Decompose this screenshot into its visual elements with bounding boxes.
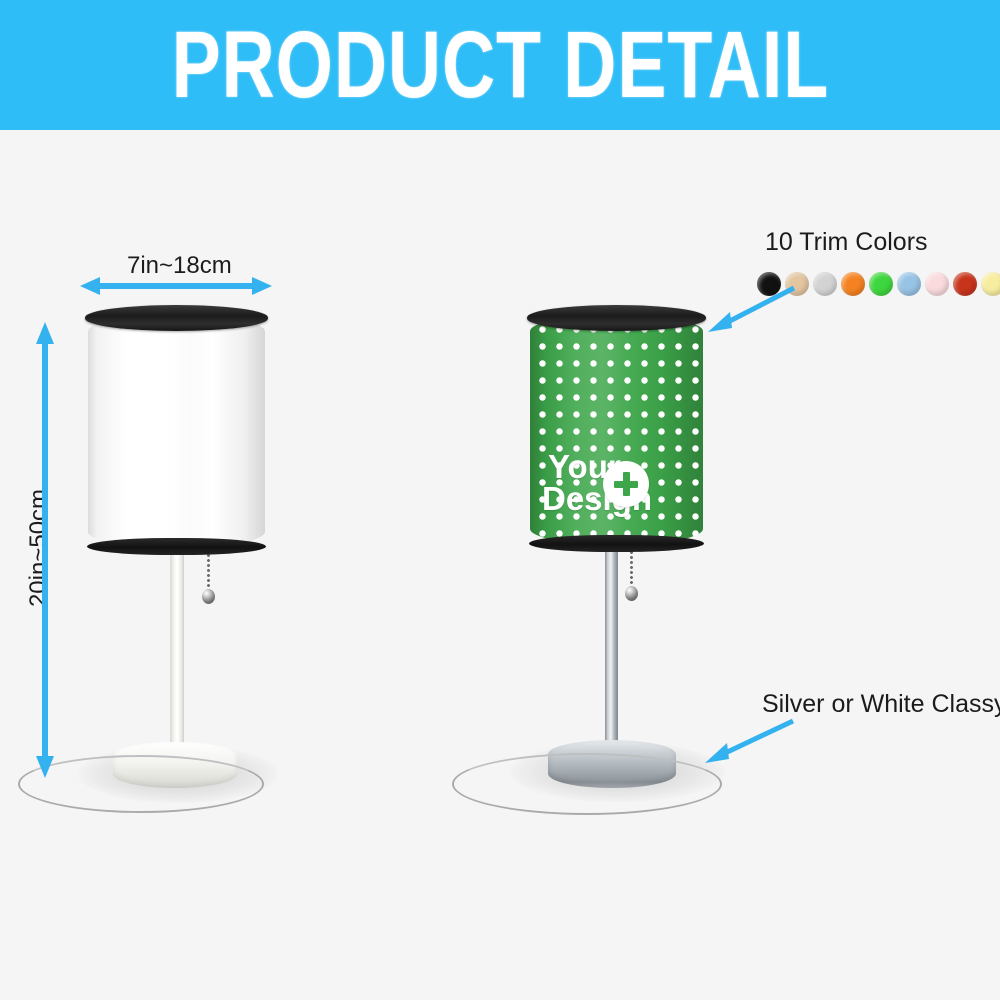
trim-swatch-light-yellow[interactable]: [981, 272, 1000, 296]
plus-circle-icon: [603, 461, 649, 507]
trim-swatch-light-blue[interactable]: [897, 272, 921, 296]
product-detail-infographic: PRODUCT DETAIL Your Design: [0, 0, 1000, 1000]
lampshade-green: Your Design: [530, 315, 703, 545]
power-cord-icon-green: [452, 753, 722, 815]
trim-swatch-pink[interactable]: [925, 272, 949, 296]
lampshade-green-top-trim: [527, 305, 706, 331]
height-dimension-arrow: [31, 320, 59, 780]
lamp-pole-silver: [605, 545, 618, 755]
lampshade-white-top-trim: [85, 305, 268, 331]
trim-swatch-red[interactable]: [953, 272, 977, 296]
trim-swatch-light-gray[interactable]: [813, 272, 837, 296]
trim-swatch-orange[interactable]: [841, 272, 865, 296]
width-dimension-arrow: [78, 272, 274, 300]
lampshade-green-bottom-trim: [529, 535, 704, 552]
header-banner: PRODUCT DETAIL: [0, 0, 1000, 130]
trim-pointer-arrow: [698, 282, 800, 334]
pull-chain-ball-icon[interactable]: [202, 589, 215, 604]
trim-colors-label: 10 Trim Colors: [765, 228, 928, 257]
lamp-pole-white: [170, 548, 184, 760]
trim-swatch-green[interactable]: [869, 272, 893, 296]
pull-chain-ball-icon-green[interactable]: [625, 586, 638, 601]
page-title: PRODUCT DETAIL: [171, 18, 829, 112]
base-pointer-arrow: [695, 715, 800, 767]
lampshade-white-surface: [88, 315, 265, 548]
lampshade-white: [88, 315, 265, 548]
lampshade-white-bottom-trim: [87, 538, 266, 555]
